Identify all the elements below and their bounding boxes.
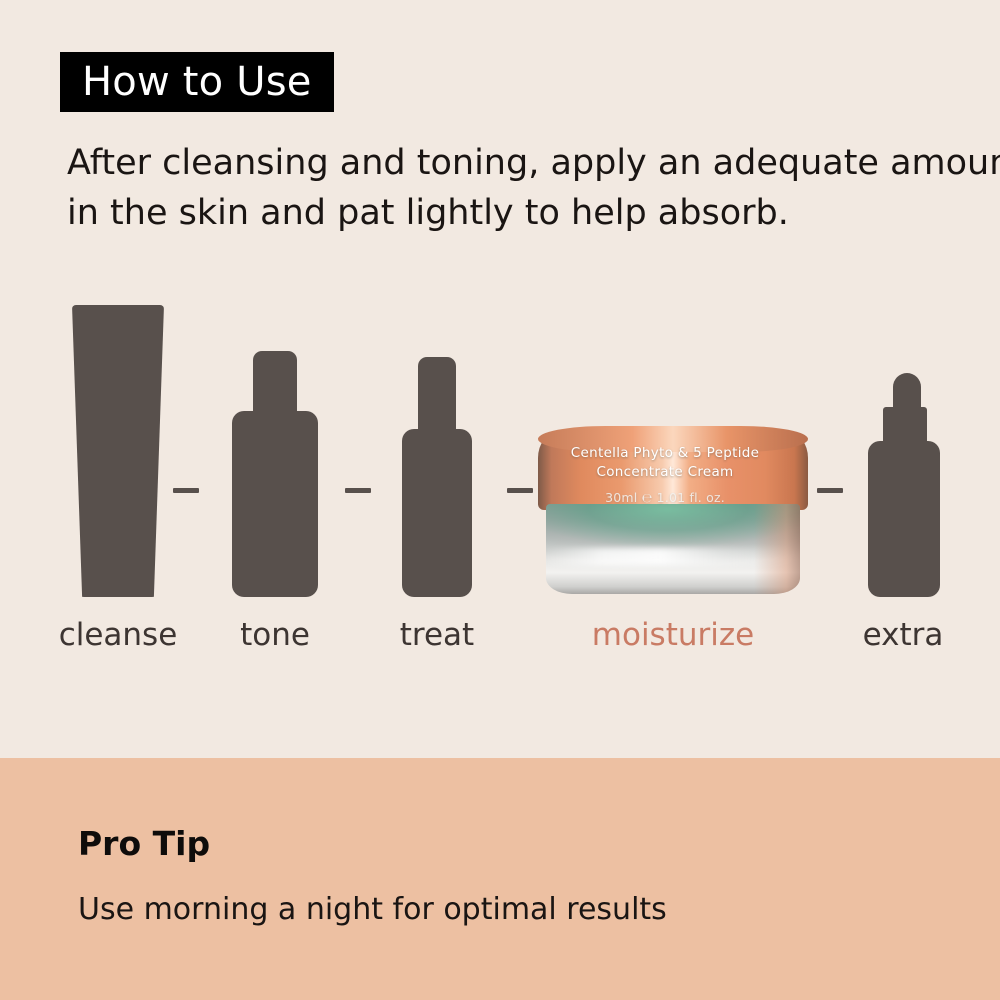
toner-body <box>232 411 318 597</box>
product-name-label: Centella Phyto & 5 Peptide Concentrate C… <box>538 444 792 482</box>
step-label-extra: extra <box>773 618 1000 652</box>
serum-bottle-icon <box>402 357 472 597</box>
dropper-bottle-icon <box>868 373 940 597</box>
toner-bottle-icon <box>232 351 318 597</box>
step-label-moisturize: moisturize <box>543 618 803 652</box>
product-jar: Centella Phyto & 5 Peptide Concentrate C… <box>538 432 808 597</box>
section-title-badge: How to Use <box>60 52 334 112</box>
product-name-line-2: Concentrate Cream <box>538 463 792 482</box>
dropper-body <box>868 441 940 597</box>
product-volume-label: 30ml ℮ 1.01 fl. oz. <box>538 490 792 505</box>
intro-line-1: After cleansing and toning, apply an ade… <box>67 138 957 188</box>
routine-steps-row: cleanse tone treat <box>0 280 1000 680</box>
cleanser-tube-icon <box>72 305 164 597</box>
step-separator-dash-2 <box>345 488 371 493</box>
serum-body <box>402 429 472 597</box>
infographic-page: How to Use After cleansing and toning, a… <box>0 0 1000 1000</box>
jar-glass-body <box>546 504 800 594</box>
pro-tip-text: Use morning a night for optimal results <box>78 893 667 927</box>
page-title: How to Use <box>82 62 312 102</box>
step-label-treat: treat <box>307 618 567 652</box>
toner-cap <box>253 351 297 417</box>
pro-tip-title: Pro Tip <box>78 826 210 862</box>
product-name-line-1: Centella Phyto & 5 Peptide <box>538 444 792 463</box>
step-separator-dash-3 <box>507 488 533 493</box>
serum-cap <box>418 357 456 439</box>
how-to-use-panel: How to Use After cleansing and toning, a… <box>0 0 1000 758</box>
intro-paragraph: After cleansing and toning, apply an ade… <box>67 138 957 238</box>
step-separator-dash-1 <box>173 488 199 493</box>
intro-line-2: in the skin and pat lightly to help abso… <box>67 188 957 238</box>
pro-tip-panel: Pro Tip Use morning a night for optimal … <box>0 758 1000 1000</box>
step-separator-dash-4 <box>817 488 843 493</box>
jar-glass-warm-edge <box>754 504 800 594</box>
